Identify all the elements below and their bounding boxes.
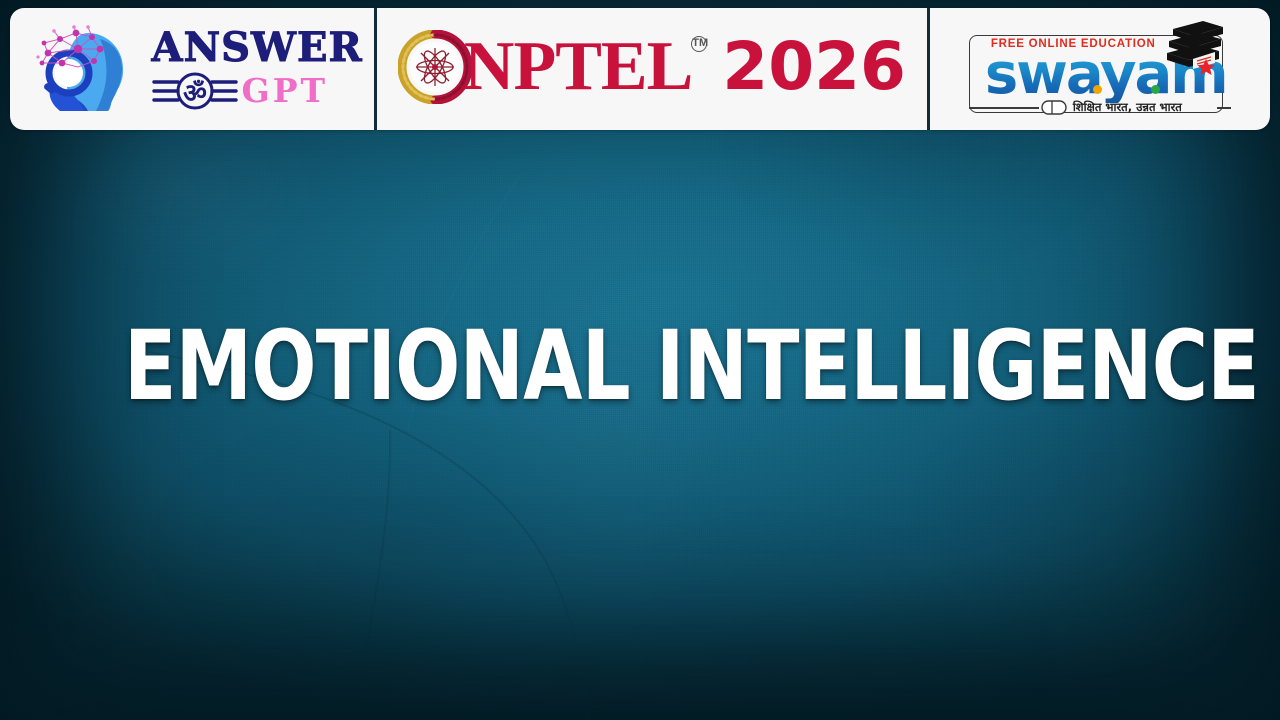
swayam-hindi-text: शिक्षित भारत, उन्नत भारत	[1073, 100, 1182, 115]
computer-mouse-icon	[1041, 100, 1067, 115]
answergpt-gpt-text: GPT	[242, 74, 329, 107]
slide-title: EMOTIONAL INTELLIGENCE	[124, 318, 1116, 414]
answergpt-logo: ANSWER ॐ	[30, 23, 363, 115]
stacked-books-icon	[1159, 19, 1231, 75]
answergpt-wordmark: ANSWER ॐ	[152, 28, 363, 111]
nptel-year-text: 2026	[722, 34, 906, 100]
answergpt-answer-text: ANSWER	[152, 28, 363, 68]
trademark-icon: TM	[691, 36, 707, 52]
answergpt-logo-panel[interactable]: ANSWER ॐ	[10, 8, 374, 130]
nptel-logo-panel[interactable]: NPTEL TM 2026	[377, 8, 926, 130]
nptel-wordmark-text: NPTEL	[464, 28, 692, 105]
svg-text:ॐ: ॐ	[183, 79, 207, 109]
swayam-hindi-tagline: शिक्षित भारत, उन्नत भारत	[1041, 100, 1182, 115]
swayam-rule-left	[969, 107, 1039, 109]
slide-canvas: ANSWER ॐ	[0, 0, 1280, 720]
om-tripundra-icon: ॐ	[152, 71, 238, 111]
nptel-atom-emblem-icon	[398, 30, 472, 104]
head-neural-network-magnifier-icon	[30, 23, 142, 115]
swayam-green-dot-icon	[1151, 85, 1160, 94]
nptel-wordmark: NPTEL TM	[464, 32, 692, 102]
swayam-rule-right	[1217, 107, 1231, 109]
swayam-logo-panel[interactable]: FREE ONLINE EDUCATION swayam	[930, 8, 1270, 130]
swayam-logo: FREE ONLINE EDUCATION swayam	[965, 17, 1235, 121]
logo-header-bar: ANSWER ॐ	[10, 8, 1270, 130]
nptel-logo: NPTEL TM 2026	[398, 30, 906, 104]
swayam-orange-dot-icon	[1093, 85, 1102, 94]
